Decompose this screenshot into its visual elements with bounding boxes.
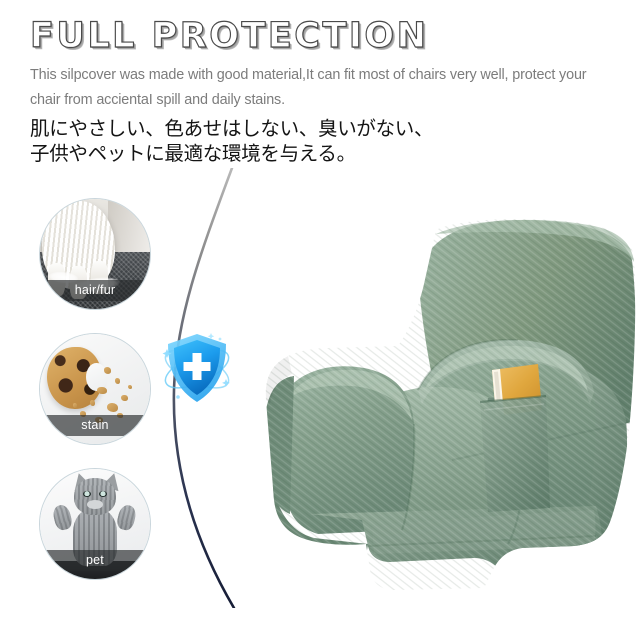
feature-badge-label: pet (40, 550, 150, 571)
recliner-chair-slipcover-photo (222, 214, 640, 596)
page-title: FULL PROTECTION (30, 19, 428, 54)
feature-badge-stain: stain (39, 333, 151, 445)
description-japanese-line-2: 子供やペットに最適な環境を与える。 (30, 142, 450, 167)
feature-badge-label: stain (40, 415, 150, 436)
feature-badge-hair-fur: hair/fur (39, 198, 151, 310)
feature-badge-label: hair/fur (40, 280, 150, 301)
description-japanese-line-1: 肌にやさしい、色あせはしない、臭いがない、 (30, 117, 450, 142)
description-japanese: 肌にやさしい、色あせはしない、臭いがない、 子供やペットに最適な環境を与える。 (30, 117, 450, 166)
feature-badge-pet: pet (39, 468, 151, 580)
product-feature-banner: FULL PROTECTION This silpcover was made … (0, 0, 640, 618)
description-english: This silpcover was made with good materi… (30, 63, 618, 113)
